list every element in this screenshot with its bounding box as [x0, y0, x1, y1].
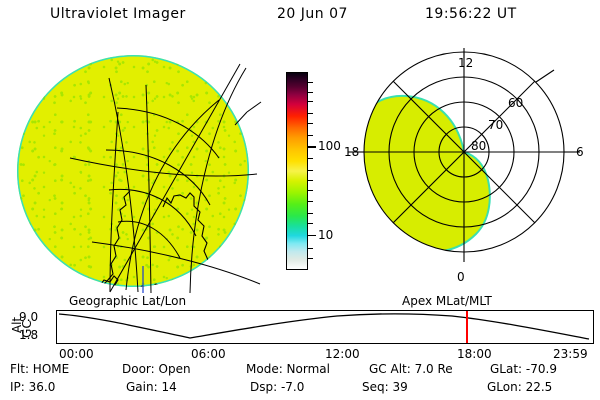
geographic-disk-panel — [14, 50, 264, 295]
strip-ytick-high: 9.0 — [19, 310, 38, 324]
colorbar-minor-tick — [307, 123, 313, 124]
colorbar-minor-tick — [307, 158, 313, 159]
colorbar-minor-tick — [307, 190, 313, 191]
time-axis-label: 12:00 — [325, 347, 360, 361]
colorbar-tick-label: 100 — [318, 139, 341, 153]
colorbar-minor-tick — [307, 170, 313, 171]
polar-dial-panel: 126018 607080 — [340, 48, 592, 298]
observation-time: 19:56:22 UT — [425, 6, 517, 22]
polar-dial-plot — [340, 48, 592, 298]
status-readout: Flt: HOMEDoor: OpenMode: NormalGC Alt: 7… — [0, 362, 600, 400]
colorbar-minor-tick — [307, 248, 313, 249]
status-row-1: Flt: HOMEDoor: OpenMode: NormalGC Alt: 7… — [0, 362, 600, 379]
header-bar: Ultraviolet Imager 20 Jun 07 19:56:22 UT — [0, 6, 600, 28]
status-flt: Flt: HOME — [10, 362, 69, 376]
time-axis-label: 18:00 — [457, 347, 492, 361]
colorbar-minor-tick — [307, 135, 313, 136]
colorbar-major-tick — [307, 146, 316, 148]
colorbar-minor-tick — [307, 101, 313, 102]
mlt-label: 12 — [458, 56, 473, 70]
status-seq: Seq: 39 — [362, 380, 408, 394]
mlat-label: 60 — [508, 96, 523, 110]
strip-title-geographic: Geographic Lat/Lon — [69, 294, 186, 308]
colorbar-panel: photon cm-2s-1 10010 — [266, 48, 338, 298]
mlt-label: 0 — [457, 270, 465, 284]
colorbar-gradient — [286, 72, 308, 270]
status-ip: IP: 36.0 — [10, 380, 55, 394]
colorbar-minor-tick — [307, 213, 313, 214]
mlt-label: 6 — [576, 145, 584, 159]
colorbar-minor-tick — [307, 113, 313, 114]
mlat-label: 80 — [471, 139, 486, 153]
status-glon: GLon: 22.5 — [487, 380, 552, 394]
orbit-altitude-strip-plot[interactable]: Alt GC 9.0 1.8 Geographic Lat/Lon Apex M… — [56, 310, 594, 344]
status-door: Door: Open — [122, 362, 191, 376]
colorbar-minor-tick — [307, 258, 313, 259]
mlat-label: 70 — [488, 118, 503, 132]
time-axis-label: 06:00 — [191, 347, 226, 361]
altitude-track-curve — [57, 311, 591, 341]
time-axis-label: 23:59 — [553, 347, 588, 361]
strip-ytick-low: 1.8 — [19, 328, 38, 342]
colorbar-minor-tick — [307, 223, 313, 224]
colorbar-minor-tick — [307, 82, 313, 83]
status-row-2: IP: 36.0Gain: 14Dsp: -7.0Seq: 39GLon: 22… — [0, 380, 600, 397]
disk-graticule-overlay — [14, 50, 264, 295]
status-glat: GLat: -70.9 — [490, 362, 557, 376]
mlt-label: 18 — [344, 145, 359, 159]
current-time-marker — [466, 311, 468, 343]
colorbar-tick-label: 10 — [318, 228, 333, 242]
status-gain: Gain: 14 — [126, 380, 177, 394]
colorbar-minor-tick — [307, 92, 313, 93]
instrument-title: Ultraviolet Imager — [50, 6, 186, 22]
time-axis-label: 00:00 — [59, 347, 94, 361]
status-mode: Mode: Normal — [246, 362, 330, 376]
colorbar-major-tick — [307, 235, 316, 237]
colorbar-minor-tick — [307, 201, 313, 202]
status-dsp: Dsp: -7.0 — [250, 380, 304, 394]
strip-title-apex: Apex MLat/MLT — [402, 294, 492, 308]
status-gc-alt: GC Alt: 7.0 Re — [369, 362, 453, 376]
observation-date: 20 Jun 07 — [277, 6, 348, 22]
colorbar-minor-tick — [307, 180, 313, 181]
